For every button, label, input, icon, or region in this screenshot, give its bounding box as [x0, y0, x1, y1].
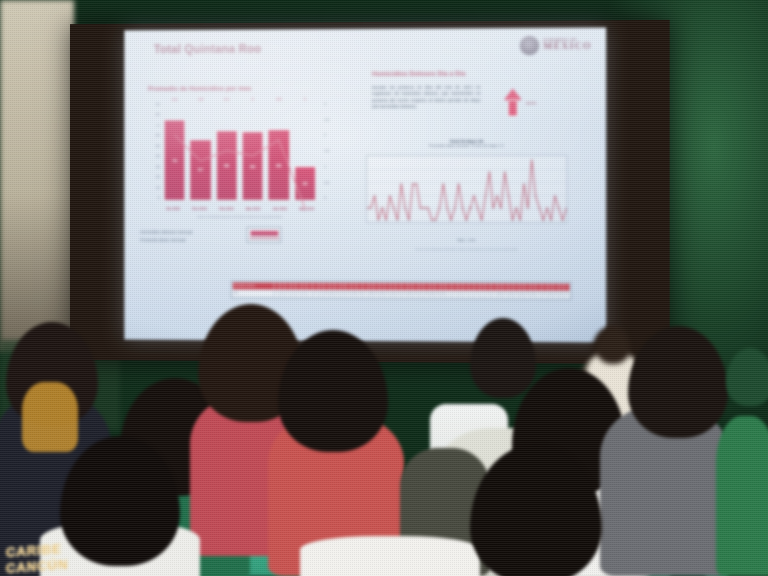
bar-avg-label: 2.1 — [224, 97, 229, 101]
x-tick-label: May 2019 — [295, 207, 318, 211]
y2-tick: 0.5 — [324, 182, 329, 186]
person-head — [726, 348, 768, 406]
slide-title: Total Quintana Roo — [154, 44, 261, 56]
line-chart-plot — [366, 155, 567, 224]
y-tick: 50 — [156, 145, 160, 149]
bar-chart: 9080706050403020100 32.521.510.50 2.4751… — [140, 99, 344, 219]
legend-line-swatch — [249, 236, 279, 240]
y-tick: 70 — [156, 124, 160, 128]
person-head — [596, 326, 630, 364]
y2-tick: 2 — [324, 135, 326, 139]
bar-avg-label: 2.4 — [172, 98, 177, 102]
x-tick-label: Ene 2019 — [188, 207, 211, 211]
bar-avg-label: 1 — [304, 97, 306, 101]
y-tick: 0 — [158, 197, 160, 201]
x-tick-label: Mar 2019 — [242, 207, 265, 211]
bar-avg-label: 2.3 — [276, 97, 281, 101]
y2-tick: 3 — [324, 103, 326, 107]
y-tick: 10 — [156, 187, 160, 191]
x-tick-label: Dic 2018 — [162, 207, 185, 211]
increase-indicator: 44.0% — [495, 84, 548, 126]
person-head — [628, 326, 728, 438]
y2-tick: 0 — [324, 197, 326, 201]
y-tick: 60 — [156, 135, 160, 139]
bar-avg-label: 2 — [252, 97, 254, 101]
legend-swatch-box — [247, 227, 282, 243]
y-tick: 20 — [156, 176, 160, 180]
x-tick-label: Abr 2019 — [268, 207, 291, 211]
bar-chart-y-axis-right: 32.521.510.50 — [324, 103, 344, 201]
y-tick: 90 — [156, 104, 160, 108]
gobierno-de-mexico-logo: GOBIERNO DE MÉXICO — [520, 36, 592, 56]
bar-chart-source: Fuente: Secretariado Ejecutivo del Siste… — [162, 216, 318, 219]
up-arrow-icon — [503, 88, 523, 116]
y-tick: 40 — [156, 156, 160, 160]
y2-tick: 1 — [324, 166, 326, 170]
y-tick: 30 — [156, 166, 160, 170]
audience: CARIBE CANCÚN — [0, 286, 768, 576]
line-chart-x-label: Mayo - Junio — [360, 238, 574, 242]
person-head — [470, 318, 536, 398]
legend-bar-swatch — [249, 229, 279, 236]
presentation-room-scene: Total Quintana Roo GOBIERNO DE MÉXICO Pr… — [0, 0, 768, 576]
y2-tick: 1.5 — [324, 150, 329, 154]
increase-percent: 44.0% — [526, 101, 536, 105]
person-shoulder — [22, 382, 78, 452]
narrative-text: Durante los primeros 22 días del mes de … — [372, 85, 480, 111]
person-body — [300, 536, 480, 576]
bar-chart-heading: Promedio de Homicidios por mes — [148, 85, 251, 92]
daily-line-chart: Total de Mayo 36 Promedio diario durante… — [360, 139, 574, 245]
bar-chart-x-axis: Dic 2018Ene 2019Feb 2019Mar 2019Abr 2019… — [162, 207, 318, 211]
line-chart-subtitle: Promedio diario durante el mes de mayo 1… — [360, 144, 574, 148]
x-tick-label: Feb 2019 — [215, 207, 238, 211]
y2-tick: 2.5 — [324, 119, 329, 123]
line-chart-source: Fuente: Centro Nacional de Información, … — [360, 249, 574, 252]
bar-chart-y-axis-left: 9080706050403020100 — [140, 104, 160, 201]
chart-legend: Homicidios dolosos mensual Promedio diar… — [140, 229, 288, 245]
bar-avg-label: 1.9 — [198, 98, 203, 102]
y-tick: 80 — [156, 114, 160, 118]
logo-title: MÉXICO — [543, 42, 592, 52]
person-body — [716, 416, 768, 576]
tshirt-print: CARIBE CANCÚN — [0, 480, 130, 576]
eagle-seal-icon — [520, 36, 539, 55]
line-chart-heading: Homicidios Dolosos Día a Día — [372, 71, 465, 78]
